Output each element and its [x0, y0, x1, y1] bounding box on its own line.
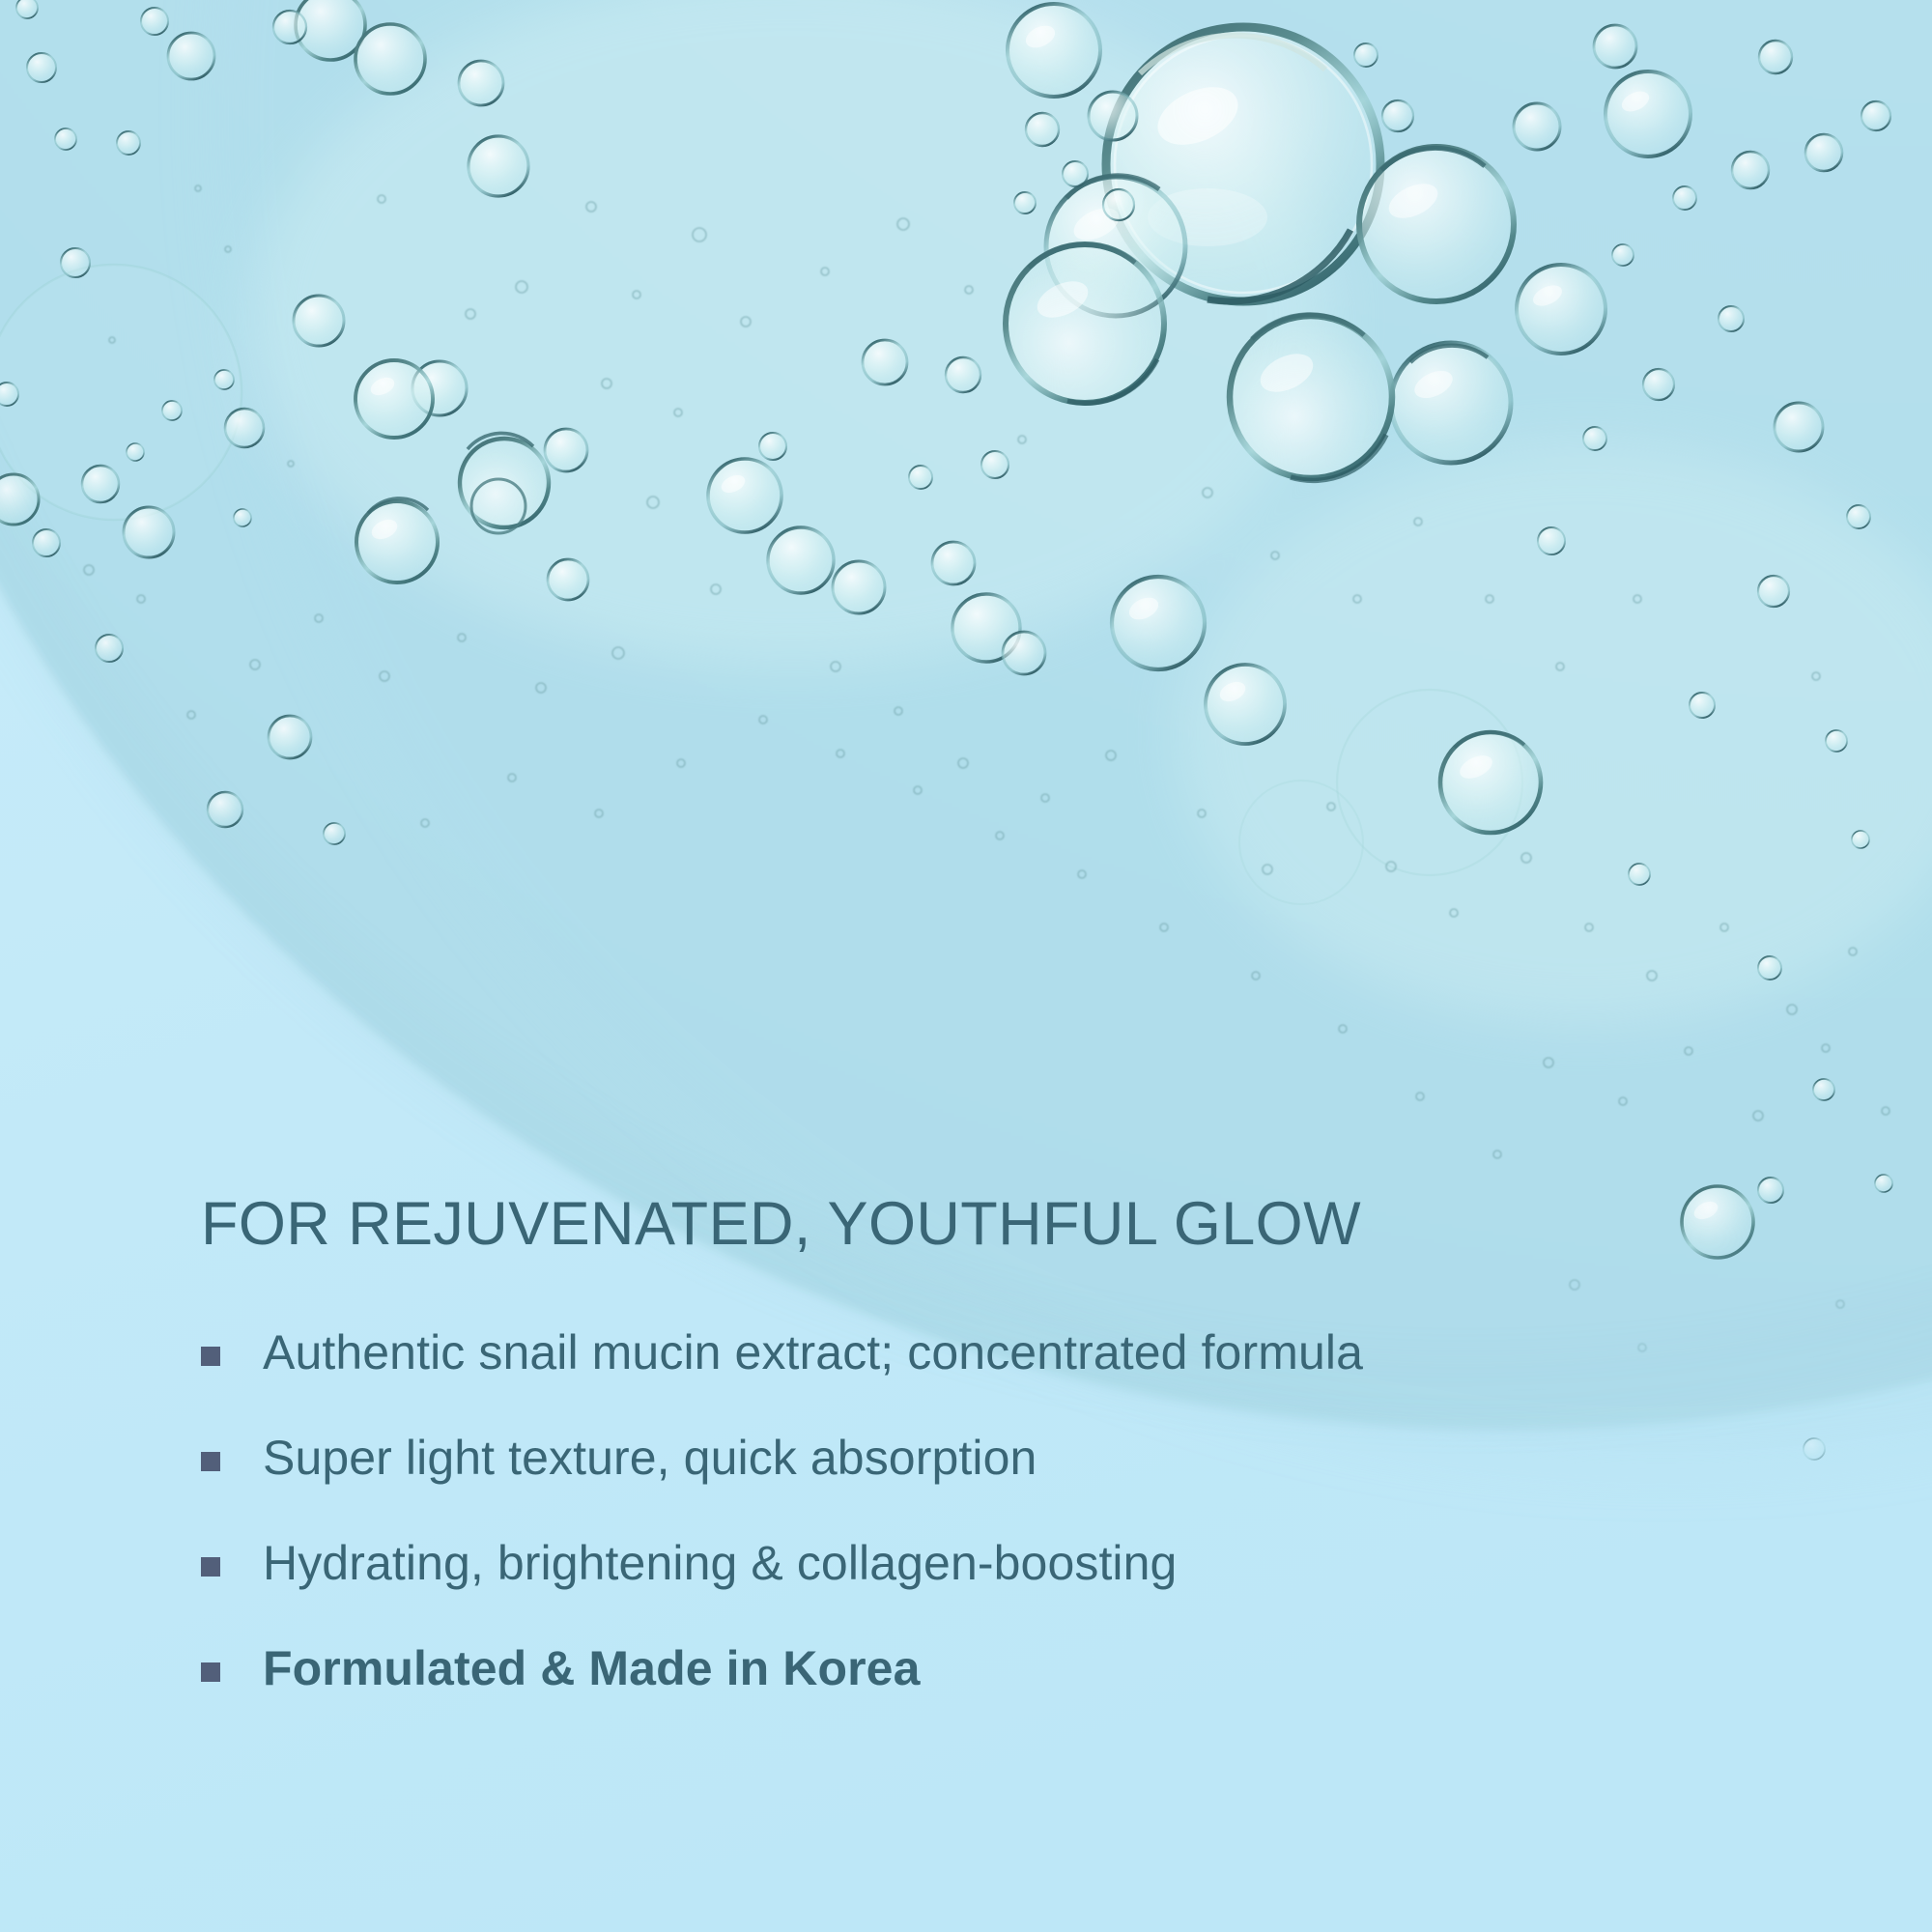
- page-title: FOR REJUVENATED, YOUTHFUL GLOW: [201, 1194, 1361, 1255]
- list-item: Super light texture, quick absorption: [201, 1431, 1785, 1486]
- feature-list: Authentic snail mucin extract; concentra…: [201, 1325, 1785, 1747]
- list-item: Authentic snail mucin extract; concentra…: [201, 1325, 1785, 1380]
- list-item-label: Formulated & Made in Korea: [263, 1641, 920, 1696]
- square-bullet-icon: [201, 1662, 220, 1682]
- square-bullet-icon: [201, 1452, 220, 1471]
- list-item-label: Hydrating, brightening & collagen-boosti…: [263, 1536, 1177, 1591]
- list-item: Formulated & Made in Korea: [201, 1641, 1785, 1696]
- list-item-label: Super light texture, quick absorption: [263, 1431, 1037, 1486]
- square-bullet-icon: [201, 1347, 220, 1366]
- copy-block: FOR REJUVENATED, YOUTHFUL GLOW Authentic…: [0, 0, 1932, 1932]
- poster-canvas: FOR REJUVENATED, YOUTHFUL GLOW Authentic…: [0, 0, 1932, 1932]
- list-item: Hydrating, brightening & collagen-boosti…: [201, 1536, 1785, 1591]
- list-item-label: Authentic snail mucin extract; concentra…: [263, 1325, 1363, 1380]
- square-bullet-icon: [201, 1557, 220, 1577]
